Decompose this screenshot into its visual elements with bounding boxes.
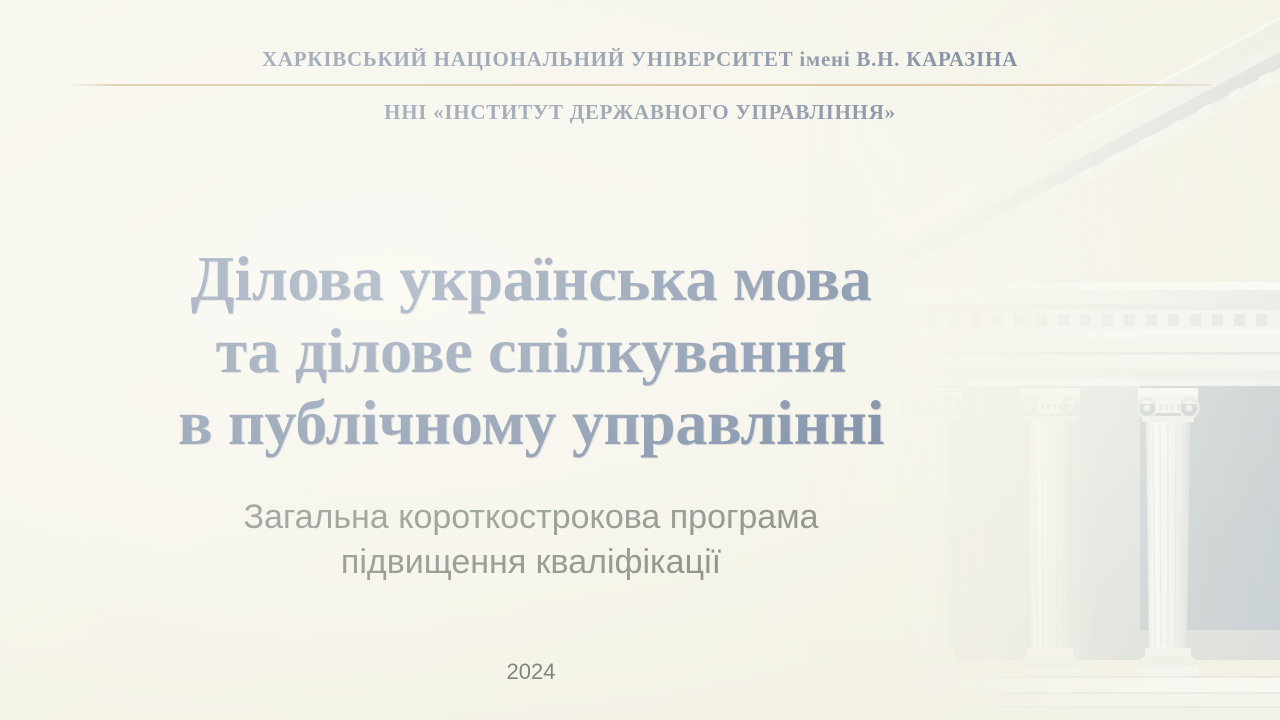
- slide-subtitle: Загальна короткострокова програма підвищ…: [0, 495, 1062, 585]
- subtitle-line-1: Загальна короткострокова програма: [0, 495, 1062, 540]
- title-line-3: в публічному управлінні: [0, 387, 1062, 459]
- university-name: ХАРКІВСЬКИЙ НАЦІОНАЛЬНИЙ УНІВЕРСИТЕТ іме…: [0, 47, 1280, 72]
- title-line-2: та ділове спілкування: [0, 315, 1062, 387]
- gold-divider-rule: [68, 84, 1212, 86]
- title-line-1: Ділова українська мова: [0, 243, 1062, 315]
- title-slide: ХАРКІВСЬКИЙ НАЦІОНАЛЬНИЙ УНІВЕРСИТЕТ іме…: [0, 0, 1280, 720]
- subtitle-line-2: підвищення кваліфікації: [0, 540, 1062, 585]
- institute-name: ННІ «ІНСТИТУТ ДЕРЖАВНОГО УПРАВЛІННЯ»: [0, 100, 1280, 125]
- slide-title: Ділова українська мова та ділове спілкув…: [0, 243, 1062, 459]
- slide-year: 2024: [0, 659, 1062, 685]
